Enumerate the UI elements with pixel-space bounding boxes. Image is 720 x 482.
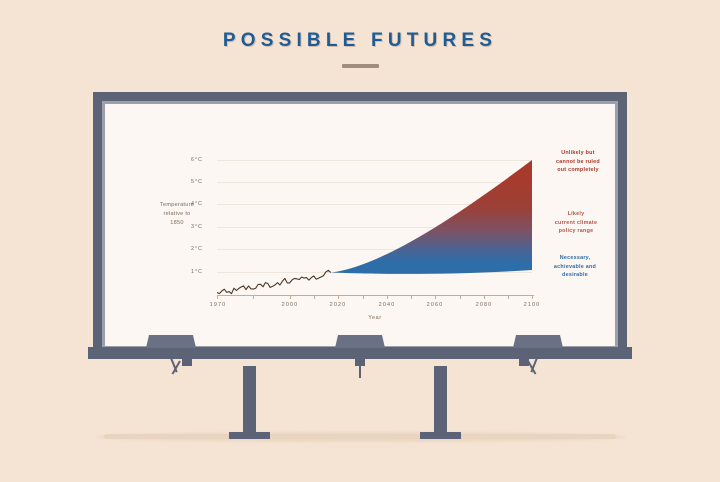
lamp-shade-left	[146, 335, 196, 348]
xtick-2090	[508, 296, 509, 299]
xtick-2030	[363, 296, 364, 299]
xtick-1970	[217, 296, 218, 299]
lamp-mount-center	[355, 359, 365, 366]
ytick-label-2: 2°C	[191, 246, 203, 252]
xtick-2040	[387, 296, 388, 299]
annotation-high-line-2: cannot be ruled	[535, 158, 621, 167]
lamp-mount-right	[519, 359, 529, 366]
annotation-high-scenario: Unlikely but cannot be ruled out complet…	[535, 149, 621, 175]
xtick-1985	[253, 296, 254, 299]
billboard-lamp-center	[335, 335, 385, 348]
xtick-label-2020: 2020	[318, 302, 358, 308]
ytick-label-6: 6°C	[191, 157, 203, 163]
billboard-leg-right-foot	[420, 432, 461, 439]
lamp-shade-center	[335, 335, 385, 348]
lamp-shade-right	[513, 335, 563, 348]
annotation-high-line-3: out completely	[535, 166, 621, 175]
xtick-2020	[338, 296, 339, 299]
annotation-mid-line-3: policy range	[533, 227, 619, 236]
xtick-label-2100: 2100	[512, 302, 552, 308]
annotation-low-scenario: Necessary, achievable and desirable	[532, 254, 618, 280]
y-axis-title-line-1: Temperature	[141, 201, 213, 210]
xtick-2000	[290, 296, 291, 299]
xtick-2080	[484, 296, 485, 299]
annotation-low-line-3: desirable	[532, 271, 618, 280]
billboard: 6°C 5°C 4°C 3°C 2°C 1°C 1970 2000 2020 2…	[93, 92, 627, 358]
xtick-label-1970: 1970	[198, 302, 238, 308]
projection-fan-area	[331, 160, 532, 274]
billboard-lamp-right	[513, 335, 563, 348]
billboard-leg-right-post	[434, 366, 447, 436]
billboard-leg-left-foot	[229, 432, 270, 439]
title-divider	[342, 64, 379, 68]
annotation-low-line-1: Necessary,	[532, 254, 618, 263]
xtick-label-2060: 2060	[415, 302, 455, 308]
x-axis-line	[217, 295, 534, 296]
y-axis-title-line-3: 1850	[141, 219, 213, 228]
climate-projection-chart: 6°C 5°C 4°C 3°C 2°C 1°C 1970 2000 2020 2…	[105, 104, 615, 346]
lamp-mount-left	[182, 359, 192, 366]
xtick-2060	[435, 296, 436, 299]
annotation-high-line-1: Unlikely but	[535, 149, 621, 158]
xtick-label-2040: 2040	[367, 302, 407, 308]
annotation-low-line-2: achievable and	[532, 263, 618, 272]
ytick-label-1: 1°C	[191, 269, 203, 275]
title-block: POSSIBLE FUTURES	[0, 30, 720, 68]
plot-area	[217, 149, 532, 295]
xtick-2100	[532, 296, 533, 299]
y-axis-title: Temperature relative to 1850	[141, 201, 213, 228]
xtick-label-2000: 2000	[270, 302, 310, 308]
y-axis-title-line-2: relative to	[141, 210, 213, 219]
xtick-2010	[314, 296, 315, 299]
annotation-mid-scenario: Likely current climate policy range	[533, 210, 619, 236]
ground-band	[104, 434, 616, 439]
xtick-2050	[411, 296, 412, 299]
xtick-label-2080: 2080	[464, 302, 504, 308]
observed-temperature-line	[217, 270, 331, 293]
ytick-label-5: 5°C	[191, 179, 203, 185]
annotation-mid-line-2: current climate	[533, 219, 619, 228]
annotation-mid-line-1: Likely	[533, 210, 619, 219]
billboard-lamp-left	[146, 335, 196, 348]
billboard-leg-left-post	[243, 366, 256, 436]
chart-svg	[217, 149, 532, 295]
x-axis-title: Year	[350, 315, 400, 321]
xtick-2070	[460, 296, 461, 299]
page-title: POSSIBLE FUTURES	[0, 30, 720, 52]
